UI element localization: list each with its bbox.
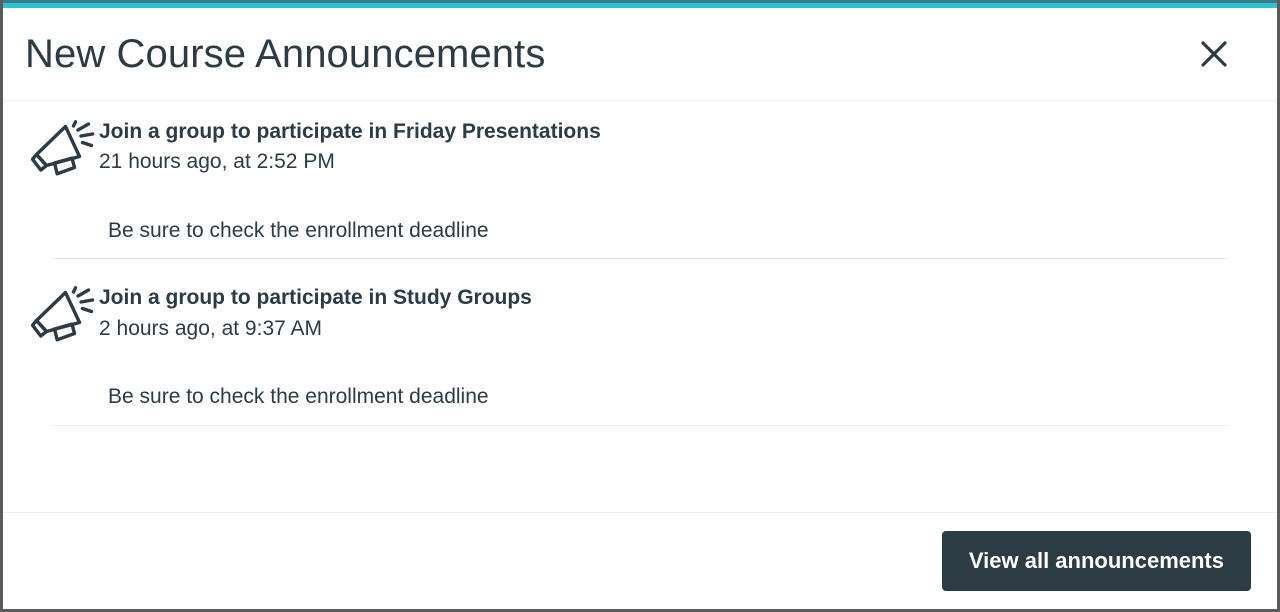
list-divider xyxy=(52,425,1228,426)
announcement-title[interactable]: Join a group to participate in Study Gro… xyxy=(99,284,1253,312)
announcement-text: Join a group to participate in Study Gro… xyxy=(99,283,1253,344)
announcement-text: Join a group to participate in Friday Pr… xyxy=(99,117,1253,178)
announcement-timestamp: 2 hours ago, at 9:37 AM xyxy=(99,314,1253,344)
announcement-message: Be sure to check the enrollment deadline xyxy=(108,216,1253,245)
announcement-row: Join a group to participate in Study Gro… xyxy=(27,283,1253,348)
page-title: New Course Announcements xyxy=(25,32,545,76)
list-item[interactable]: Join a group to participate in Study Gro… xyxy=(3,273,1277,439)
announcement-timestamp: 21 hours ago, at 2:52 PM xyxy=(99,147,1253,177)
tray-footer: View all announcements xyxy=(3,512,1277,609)
tray-header: New Course Announcements xyxy=(3,8,1277,101)
close-button[interactable] xyxy=(1187,27,1241,81)
megaphone-icon xyxy=(27,117,99,182)
list-divider xyxy=(52,258,1228,259)
announcement-title[interactable]: Join a group to participate in Friday Pr… xyxy=(99,118,1253,146)
megaphone-icon xyxy=(27,283,99,348)
view-all-announcements-button[interactable]: View all announcements xyxy=(942,531,1251,591)
announcements-tray: New Course Announcements xyxy=(0,0,1280,612)
close-icon xyxy=(1198,38,1230,70)
announcement-row: Join a group to participate in Friday Pr… xyxy=(27,117,1253,182)
announcement-message: Be sure to check the enrollment deadline xyxy=(108,382,1253,411)
announcements-list: Join a group to participate in Friday Pr… xyxy=(3,101,1277,512)
list-item[interactable]: Join a group to participate in Friday Pr… xyxy=(3,107,1277,273)
